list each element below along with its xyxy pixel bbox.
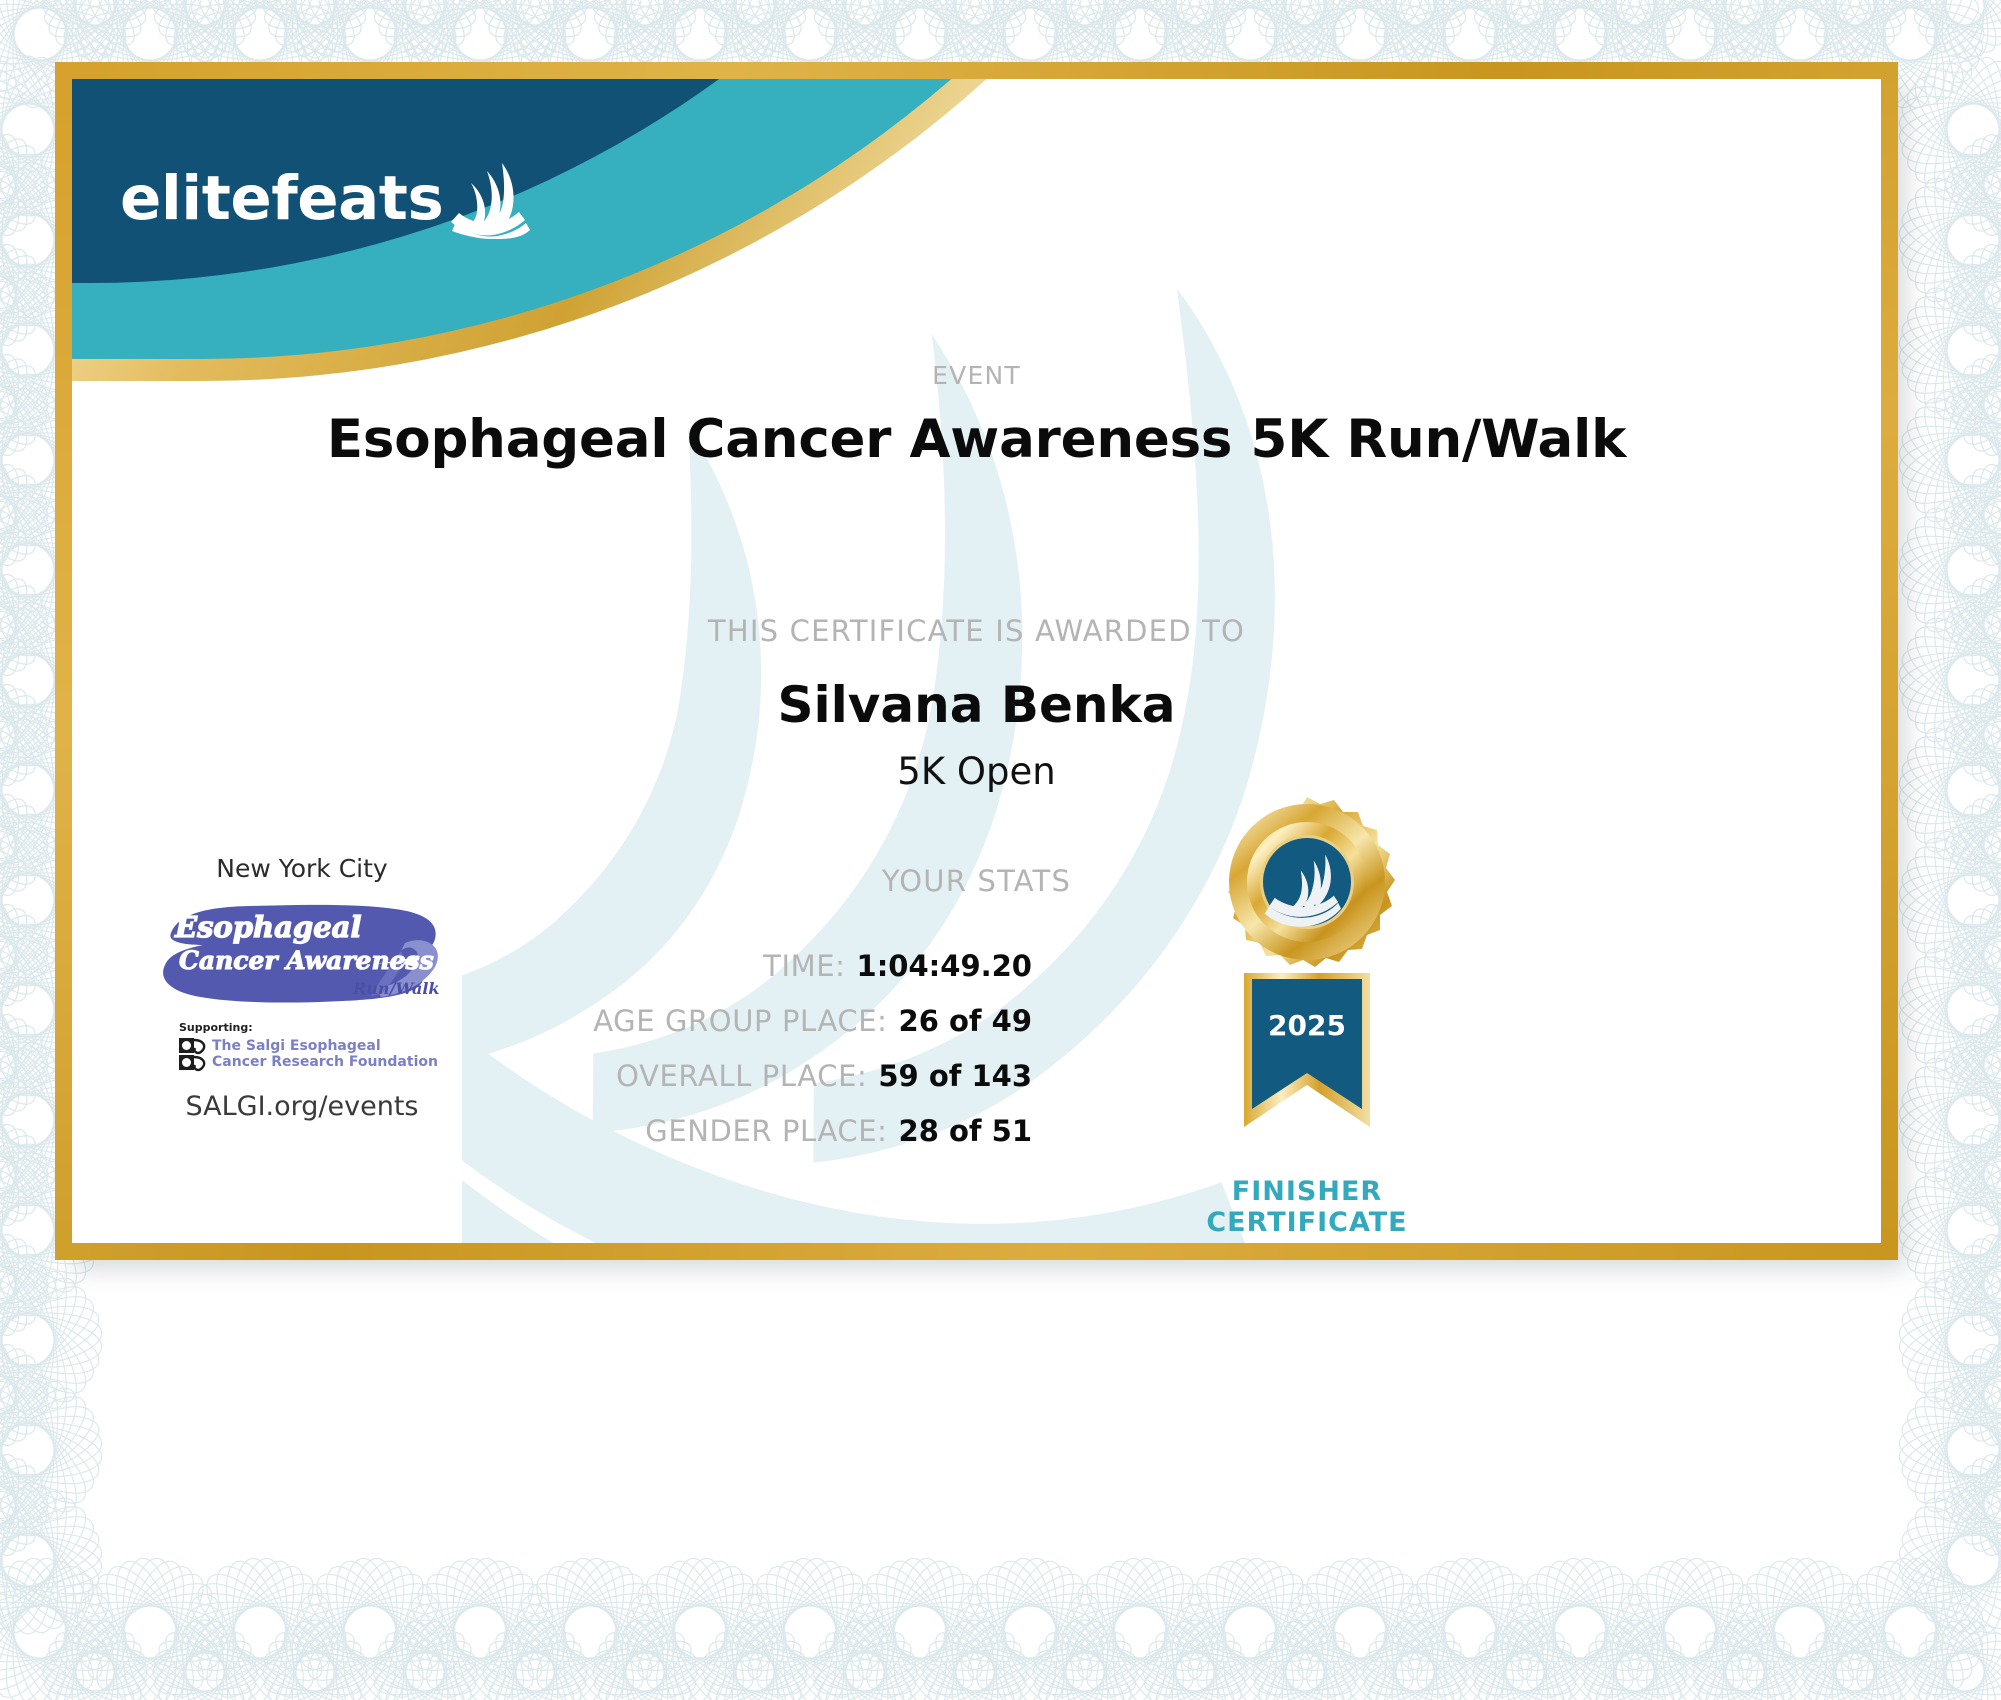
salgi-url: SALGI.org/events	[132, 1091, 472, 1122]
stat-value: 59 of 143	[878, 1059, 1032, 1093]
event-city-label: New York City	[132, 854, 472, 883]
stat-key: TIME:	[763, 949, 845, 983]
medal-caption: FINISHER CERTIFICATE	[1162, 1176, 1452, 1238]
finisher-medal: 2025	[1162, 797, 1452, 1238]
medal-graphic: 2025	[1162, 797, 1452, 1167]
certificate-content: EVENT Esophageal Cancer Awareness 5K Run…	[72, 79, 1881, 1243]
foundation-line1-text: The Salgi Esophageal	[212, 1038, 381, 1054]
awarded-to-label: THIS CERTIFICATE IS AWARDED TO	[72, 614, 1881, 648]
esophageal-cancer-awareness-logo: Esophageal Cancer Awareness Run/Walk	[157, 897, 447, 1012]
event-label: EVENT	[72, 361, 1881, 390]
event-title: Esophageal Cancer Awareness 5K Run/Walk	[72, 409, 1881, 470]
supporting-foundation-block: Supporting: The Salgi Esophageal	[132, 1018, 472, 1122]
certificate-inner-canvas: elitefeats EVENT Esophageal Cancer Aware…	[72, 79, 1881, 1243]
stat-row-age-group-place: AGE GROUP PLACE: 26 of 49	[432, 1004, 1032, 1038]
stat-key: OVERALL PLACE:	[616, 1059, 867, 1093]
stat-key: AGE GROUP PLACE:	[593, 1004, 887, 1038]
event-sponsor-block: New York City Esophageal Cancer Awarenes…	[132, 854, 472, 1122]
stat-value: 26 of 49	[899, 1004, 1032, 1038]
medal-year-text: 2025	[1268, 1009, 1346, 1042]
recipient-name: Silvana Benka	[72, 676, 1881, 734]
certificate-page: elitefeats EVENT Esophageal Cancer Aware…	[0, 0, 2001, 1700]
medal-caption-line1: FINISHER	[1162, 1176, 1452, 1207]
supporting-label-text: Supporting:	[179, 1021, 253, 1034]
svg-text:Cancer Awareness: Cancer Awareness	[179, 946, 434, 975]
stat-row-overall-place: OVERALL PLACE: 59 of 143	[432, 1059, 1032, 1093]
stats-table: TIME: 1:04:49.20 AGE GROUP PLACE: 26 of …	[432, 949, 1032, 1169]
stat-value: 1:04:49.20	[857, 949, 1032, 983]
stat-row-gender-place: GENDER PLACE: 28 of 51	[432, 1114, 1032, 1148]
svg-text:Esophageal: Esophageal	[174, 910, 361, 944]
svg-text:Run/Walk: Run/Walk	[352, 979, 440, 998]
division-name: 5K Open	[72, 750, 1881, 793]
salgi-foundation-logo: Supporting: The Salgi Esophageal	[157, 1018, 447, 1080]
certificate-gold-frame: elitefeats EVENT Esophageal Cancer Aware…	[55, 62, 1898, 1260]
stat-row-time: TIME: 1:04:49.20	[432, 949, 1032, 983]
stat-key: GENDER PLACE:	[645, 1114, 887, 1148]
foundation-line2-text: Cancer Research Foundation	[212, 1054, 438, 1070]
stat-value: 28 of 51	[899, 1114, 1032, 1148]
medal-caption-line2: CERTIFICATE	[1162, 1207, 1452, 1238]
